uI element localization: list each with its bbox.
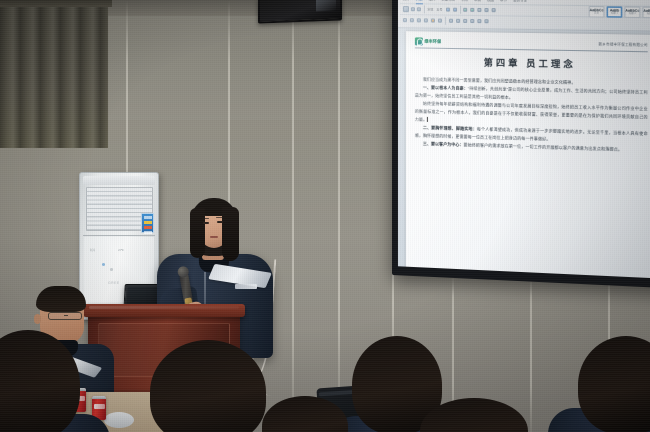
- style-card-heading2[interactable]: AaBbCc 标题 2: [624, 6, 640, 18]
- wall-seam: [530, 274, 532, 432]
- ribbon-divider: [460, 6, 461, 14]
- ac-top-vent: [83, 176, 155, 185]
- paragraph-lead: 三、要以客户为中心：: [423, 141, 464, 147]
- presenter-head: [191, 198, 237, 256]
- ribbon-divider: [424, 5, 425, 13]
- ac-seam: [83, 235, 155, 236]
- projection-screen: 文件 开始 插入 页面布局 引用 审阅 视图 章节 会员专享: [392, 0, 650, 288]
- taskbar-item-label: 通知: [490, 275, 495, 279]
- presenter-hair-right: [222, 207, 239, 261]
- style-card-heading1[interactable]: AaBb 标题 1: [607, 6, 623, 18]
- taskbar-item-label: 新乡市绿丰环保工程...: [508, 276, 534, 279]
- text-cursor: [427, 116, 428, 121]
- style-gallery[interactable]: AaBbCc 正文 AaBb 标题 1 AaBbCc 标题 2 AaBbCc: [589, 6, 650, 18]
- font-color-icon[interactable]: [438, 19, 442, 23]
- ribbon-tab-layout[interactable]: 页面布局: [441, 0, 455, 4]
- word-doc-icon: [428, 272, 431, 276]
- presenter-eyebrow: [202, 218, 209, 219]
- wall-seam: [338, 0, 340, 432]
- seated-man-ear: [34, 314, 41, 324]
- ribbon-tab-reference[interactable]: 引用: [461, 0, 468, 4]
- taskbar-item-ime[interactable]: 输入法: [539, 276, 556, 278]
- taskbar-item-notify[interactable]: 通知: [483, 274, 497, 279]
- ribbon-tab-insert[interactable]: 插入: [428, 0, 435, 3]
- word-ribbon: 文件 开始 插入 页面布局 引用 审阅 视图 章节 会员专享: [398, 0, 650, 32]
- document-page[interactable]: 绿丰环保 新乡市绿丰环保工程有限公司 第四章 员工理念 我们应当成为建不同一类型…: [406, 31, 650, 279]
- indent-increase-icon[interactable]: [456, 19, 460, 23]
- white-plate: [104, 412, 134, 428]
- style-name: 标题 2: [629, 12, 636, 15]
- highlight-icon[interactable]: [431, 18, 435, 22]
- ribbon-tab-view[interactable]: 视图: [487, 0, 494, 4]
- font-size-box[interactable]: 五号: [436, 7, 442, 11]
- numbering-icon[interactable]: [470, 8, 474, 12]
- taskbar-item-label: Remote Pro: [464, 274, 478, 278]
- taskbar-item-label: 文档 - WPS 文字: [433, 272, 452, 277]
- company-logo-text: 绿丰环保: [424, 38, 441, 44]
- ribbon-tab-member[interactable]: 会员专享: [513, 0, 527, 4]
- window-curtain: [0, 0, 108, 148]
- presenter-eye: [203, 222, 209, 224]
- ac-power-button[interactable]: [102, 263, 105, 266]
- sort-icon[interactable]: [477, 19, 481, 23]
- ribbon-tab-file[interactable]: 文件: [403, 0, 410, 3]
- paragraph-text: 始终坚持每年把薪资结构和福利待遇的调整与公司年度发展目标深度挂钩，始终把员工收入…: [415, 101, 648, 121]
- photo-scene: 文件 开始 插入 页面布局 引用 审阅 视图 章节 会员专享: [0, 0, 650, 432]
- eyeglasses-icon: [48, 312, 82, 320]
- presenter-eyebrow: [216, 217, 223, 218]
- ribbon-tab-section[interactable]: 章节: [500, 0, 507, 4]
- taskbar-item-label: 输入法: [546, 278, 554, 279]
- search-icon[interactable]: [410, 271, 415, 276]
- energy-label-icon: [141, 213, 154, 233]
- format-painter-icon[interactable]: [403, 18, 407, 22]
- style-card-heading3[interactable]: AaBbCc 标题 3: [642, 6, 650, 18]
- font-name-box[interactable]: 宋体: [427, 7, 433, 11]
- presenter-hair-left: [190, 208, 205, 258]
- task-view-icon[interactable]: [418, 272, 423, 277]
- bold-icon[interactable]: [410, 18, 414, 22]
- show-marks-icon[interactable]: [484, 19, 488, 23]
- borders-icon[interactable]: [463, 19, 467, 23]
- bullets-icon[interactable]: [463, 8, 467, 12]
- curtain-rod: [0, 0, 112, 7]
- shrink-font-icon[interactable]: [453, 8, 457, 12]
- ribbon-tab-review[interactable]: 审阅: [474, 0, 481, 4]
- seated-man-hair: [36, 286, 86, 312]
- ribbon-divider: [445, 17, 446, 25]
- screen-glare: [316, 0, 336, 11]
- company-full-name: 新乡市绿丰环保工程有限公司: [598, 41, 647, 47]
- ac-brand-text: GREE: [108, 281, 120, 285]
- wall-seam: [292, 0, 294, 432]
- document-title: 第四章 员工理念: [415, 54, 648, 72]
- uniform-name-badge: [235, 284, 257, 289]
- document-canvas[interactable]: 绿丰环保 新乡市绿丰环保工程有限公司 第四章 员工理念 我们应当成为建不同一类型…: [398, 28, 650, 279]
- copy-icon[interactable]: [417, 7, 421, 11]
- underline-icon[interactable]: [424, 18, 428, 22]
- grow-font-icon[interactable]: [446, 8, 450, 12]
- projected-desktop: 文件 开始 插入 页面布局 引用 审阅 视图 章节 会员专享: [398, 0, 650, 279]
- align-center-icon[interactable]: [484, 8, 488, 12]
- taskbar-item-remote[interactable]: Remote Pro: [457, 273, 480, 279]
- paragraph-text: 我们应当成为建不同一类型意要，我们应共同塑造稳本的经营理念和企业文化精神。: [423, 76, 576, 84]
- italic-icon[interactable]: [417, 18, 421, 22]
- line-spacing-icon[interactable]: [492, 8, 496, 12]
- shading-icon[interactable]: [470, 19, 474, 23]
- style-card-normal[interactable]: AaBbCc 正文: [589, 6, 605, 17]
- ribbon-tab-home[interactable]: 开始: [416, 0, 423, 4]
- wall-mounted-monitor: [258, 0, 342, 24]
- company-logo: 绿丰环保: [415, 37, 441, 45]
- ac-display-left: 制冷: [90, 248, 95, 252]
- ac-indicator-light: [110, 268, 113, 271]
- ime-icon: [541, 278, 545, 279]
- cut-icon[interactable]: [411, 7, 415, 11]
- indent-decrease-icon[interactable]: [449, 19, 453, 23]
- presenter-eye: [217, 221, 223, 223]
- paragraph-lead: 二、要胸怀理想、脚踏实地：: [423, 125, 477, 132]
- style-name: 正文: [594, 12, 599, 15]
- clipboard-group[interactable]: [403, 6, 421, 12]
- app-icon: [485, 275, 488, 279]
- paragraph-lead: 一、要以根本人为自豪：: [423, 85, 468, 91]
- paste-icon[interactable]: [403, 6, 409, 12]
- leaf-logo-icon: [415, 37, 423, 45]
- taskbar-item-doc2[interactable]: 新乡市绿丰环保工程...: [501, 275, 536, 279]
- style-name: 标题 1: [611, 12, 618, 15]
- remote-icon: [459, 274, 462, 278]
- ac-display-right: 26℃: [118, 249, 124, 252]
- word-doc-icon: [503, 276, 506, 279]
- align-left-icon[interactable]: [477, 8, 481, 12]
